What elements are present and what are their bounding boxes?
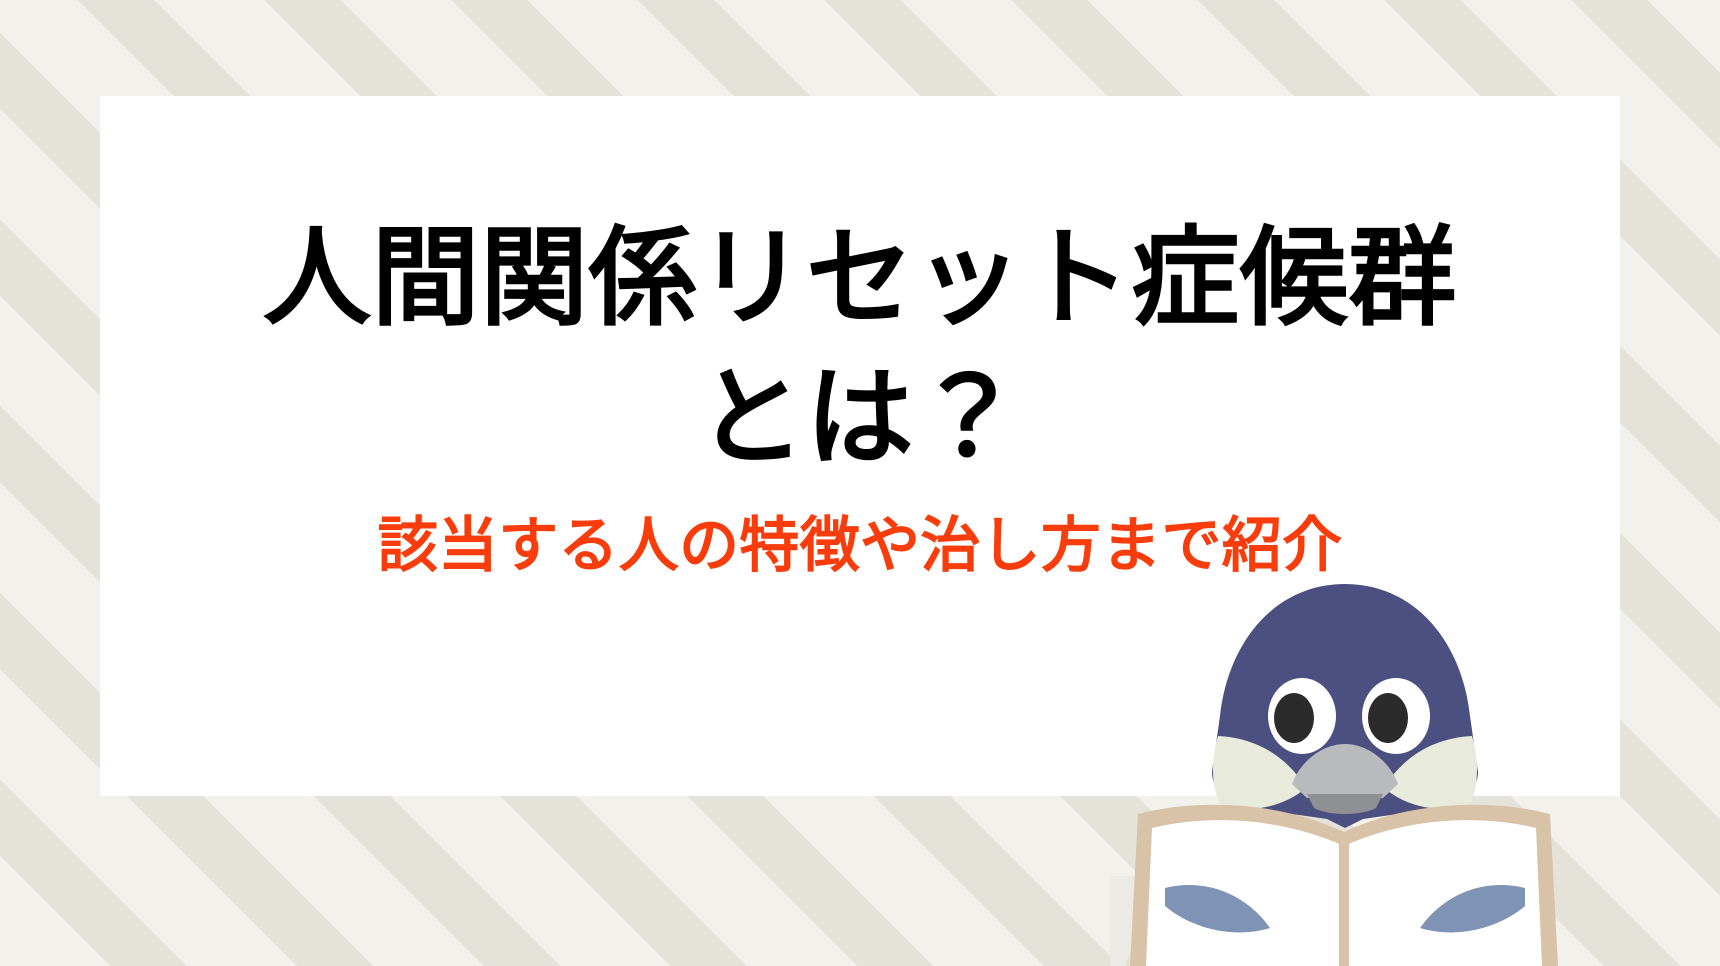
swallow-head — [1212, 584, 1478, 828]
swallow-reading-book-mascot — [1110, 576, 1580, 966]
title-line-1: 人間関係リセット症候群 — [100, 208, 1620, 348]
right-eye — [1362, 678, 1430, 754]
page-subtitle: 該当する人の特徴や治し方まで紹介 — [100, 510, 1620, 582]
thumbnail-canvas: 人間関係リセット症候群 とは？ 該当する人の特徴や治し方まで紹介 — [0, 0, 1720, 966]
page-title: 人間関係リセット症候群 とは？ — [100, 208, 1620, 489]
title-line-2: とは？ — [100, 348, 1620, 488]
left-eye — [1268, 678, 1336, 754]
